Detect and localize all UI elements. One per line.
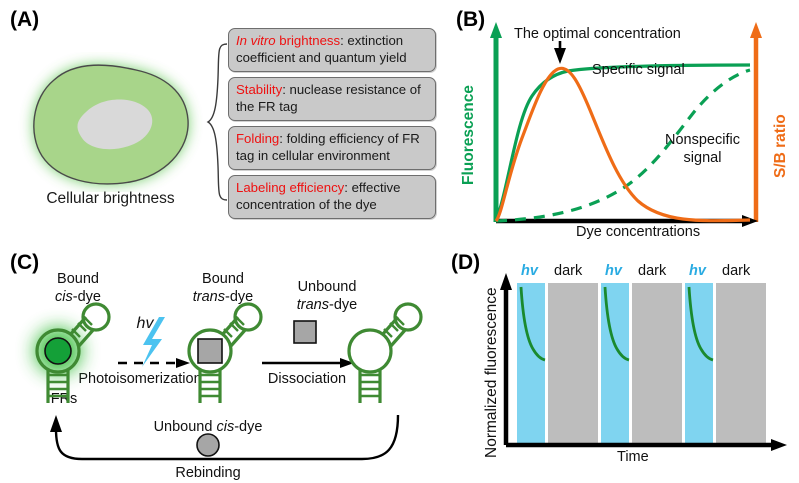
cell-caption: Cellular brightness bbox=[8, 190, 213, 208]
panel-d: (D) Normalized fluorescence hv dark hv d… bbox=[445, 243, 799, 483]
factor-keyword-italic: In vitro bbox=[236, 33, 276, 48]
lightning-bolt-icon bbox=[142, 317, 165, 367]
factor-keyword-rest: brightness bbox=[276, 33, 341, 48]
panel-d-plot bbox=[445, 243, 799, 483]
factor-keyword: Stability bbox=[236, 82, 282, 97]
panel-d-x-axis-label: Time bbox=[617, 449, 649, 465]
panel-b-label-nonspecific-line1: Nonspecific bbox=[655, 132, 750, 148]
band-light-1 bbox=[517, 283, 545, 445]
rna-structure-unbound bbox=[349, 304, 421, 403]
factor-box-labeling-efficiency: Labeling efficiency: effective concentra… bbox=[228, 175, 436, 219]
factor-keyword: Labeling efficiency bbox=[236, 180, 344, 195]
dissociation-arrow-icon bbox=[262, 358, 354, 368]
panel-a: (A) Cellular brightness In vitro brightn… bbox=[0, 0, 450, 243]
band-light-2 bbox=[601, 283, 629, 445]
factor-box-in-vitro-brightness: In vitro brightness: extinction coeffici… bbox=[228, 28, 436, 72]
cell-shape-icon bbox=[18, 52, 203, 192]
band-label-dark-2: dark bbox=[638, 263, 666, 279]
factor-box-stability: Stability: nuclease resistance of the FR… bbox=[228, 77, 436, 121]
panel-c: (C) Bound cis-dye Bound trans-dye Unboun… bbox=[0, 243, 445, 483]
factor-box-folding: Folding: folding efficiency of FR tag in… bbox=[228, 126, 436, 170]
band-label-dark-3: dark bbox=[722, 263, 750, 279]
panel-b-label-nonspecific-line2: signal bbox=[655, 150, 750, 166]
band-dark-2 bbox=[632, 283, 682, 445]
panel-b: (B) Fluorescence S/B ratio The optima bbox=[450, 0, 799, 246]
rna-structure-bound-trans bbox=[189, 304, 261, 403]
factor-list: In vitro brightness: extinction coeffici… bbox=[228, 28, 436, 224]
band-label-hv-3: hv bbox=[689, 263, 706, 279]
factor-keyword: In vitro brightness bbox=[236, 33, 340, 48]
band-label-hv-2: hv bbox=[605, 263, 622, 279]
axis-right-orange bbox=[750, 22, 762, 222]
band-dark-1 bbox=[548, 283, 598, 445]
rebinding-arrow-icon bbox=[50, 415, 398, 459]
panel-a-label: (A) bbox=[10, 8, 39, 32]
band-label-hv-1: hv bbox=[521, 263, 538, 279]
band-label-dark-1: dark bbox=[554, 263, 582, 279]
axis-left-green bbox=[490, 22, 502, 222]
panel-b-annotation-optimal: The optimal concentration bbox=[514, 26, 681, 42]
factor-keyword: Folding bbox=[236, 131, 279, 146]
panel-c-diagram bbox=[0, 243, 445, 483]
panel-b-x-axis-label: Dye concentrations bbox=[576, 224, 700, 240]
photoisomerization-arrow-icon bbox=[118, 358, 190, 368]
band-light-3 bbox=[685, 283, 713, 445]
rna-structure-bound-cis bbox=[34, 304, 109, 403]
unbound-trans-dye-icon bbox=[294, 321, 316, 343]
cell-illustration bbox=[18, 52, 203, 192]
bound-trans-dye-icon bbox=[198, 339, 222, 363]
panel-b-label-specific: Specific signal bbox=[592, 62, 685, 78]
unbound-cis-dye-icon bbox=[197, 434, 219, 456]
axis-y bbox=[500, 273, 512, 445]
optimal-concentration-arrow-icon bbox=[554, 41, 566, 64]
band-dark-3 bbox=[716, 283, 766, 445]
bound-cis-dye-icon bbox=[45, 338, 71, 364]
